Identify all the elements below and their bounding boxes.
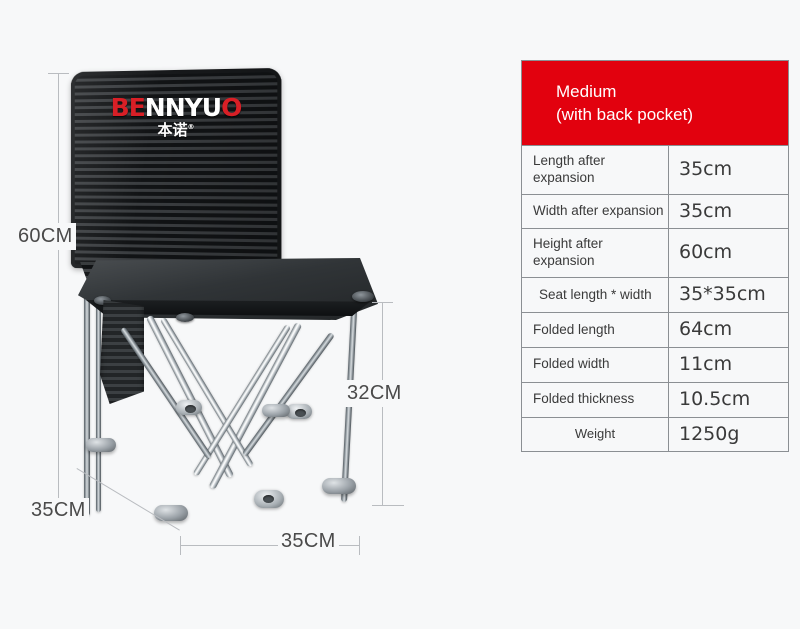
- table-row: Folded width 11cm: [522, 347, 789, 382]
- spec-label: Seat length * width: [522, 278, 669, 313]
- dimension-line-height: [58, 73, 59, 517]
- dimension-cap-height-top: [48, 73, 69, 74]
- table-row: Seat length * width 35*35cm: [522, 278, 789, 313]
- chair-seat-grommet-front: [176, 313, 194, 322]
- dimension-cap-width-right: [359, 536, 360, 555]
- spec-value: 35cm: [669, 145, 789, 194]
- spec-value: 64cm: [669, 313, 789, 348]
- chair-front-brace-a: [160, 317, 254, 468]
- dimension-label-seat-height: 32CM: [344, 380, 405, 407]
- brand-logo-text: BENNYUO: [111, 93, 242, 122]
- spec-table-header: Medium (with back pocket): [521, 60, 789, 145]
- dimension-label-width: 35CM: [278, 529, 339, 554]
- product-spec-sheet: BENNYUO 本诺®: [0, 0, 800, 629]
- dimension-cap-seat-top: [372, 302, 393, 303]
- spec-label: Folded length: [522, 313, 669, 348]
- table-row: Folded thickness 10.5cm: [522, 382, 789, 417]
- spec-label: Length after expansion: [522, 145, 669, 194]
- chair-foot-rear-right: [262, 404, 290, 417]
- dimension-cap-baseline-right: [382, 505, 404, 506]
- chair-center-hub: [254, 490, 284, 508]
- spec-label: Width after expansion: [522, 194, 669, 229]
- spec-header-line-1: Medium: [556, 81, 788, 104]
- product-illustration: BENNYUO 本诺®: [0, 0, 510, 629]
- dimension-label-depth: 35CM: [28, 498, 89, 523]
- chair-side-hub-left: [176, 400, 202, 415]
- table-row: Folded length 64cm: [522, 313, 789, 348]
- spec-value: 1250g: [669, 417, 789, 452]
- brand-logo: BENNYUO 本诺®: [96, 95, 256, 159]
- table-row: Length after expansion 35cm: [522, 145, 789, 194]
- brand-logo-chinese: 本诺®: [96, 123, 256, 138]
- spec-value: 60cm: [669, 229, 789, 278]
- chair-front-leg-a: [146, 315, 234, 479]
- table-row: Width after expansion 35cm: [522, 194, 789, 229]
- dimension-label-height: 60CM: [15, 223, 76, 250]
- spec-value: 10.5cm: [669, 382, 789, 417]
- specification-table: Medium (with back pocket) Length after e…: [521, 60, 789, 452]
- chair-rear-leg-left-inner: [96, 286, 101, 512]
- spec-value: 35cm: [669, 194, 789, 229]
- table-row: Height after expansion 60cm: [522, 229, 789, 278]
- chair-foot-rear-left: [86, 438, 116, 452]
- chair-seat-grommet-right: [352, 291, 374, 302]
- spec-label: Folded thickness: [522, 382, 669, 417]
- chair-rear-leg-left: [84, 284, 90, 516]
- spec-label: Height after expansion: [522, 229, 669, 278]
- spec-label: Weight: [522, 417, 669, 452]
- spec-value: 11cm: [669, 347, 789, 382]
- spec-rows-table: Length after expansion 35cm Width after …: [521, 145, 789, 453]
- spec-value: 35*35cm: [669, 278, 789, 313]
- brand-logo-latin: BENNYUO: [96, 95, 256, 120]
- spec-header-line-2: (with back pocket): [556, 104, 788, 127]
- chair-foot-front-right: [322, 478, 356, 494]
- dimension-cap-width-left: [180, 536, 181, 555]
- folding-chair: BENNYUO 本诺®: [0, 0, 510, 629]
- spec-label: Folded width: [522, 347, 669, 382]
- table-row: Weight 1250g: [522, 417, 789, 452]
